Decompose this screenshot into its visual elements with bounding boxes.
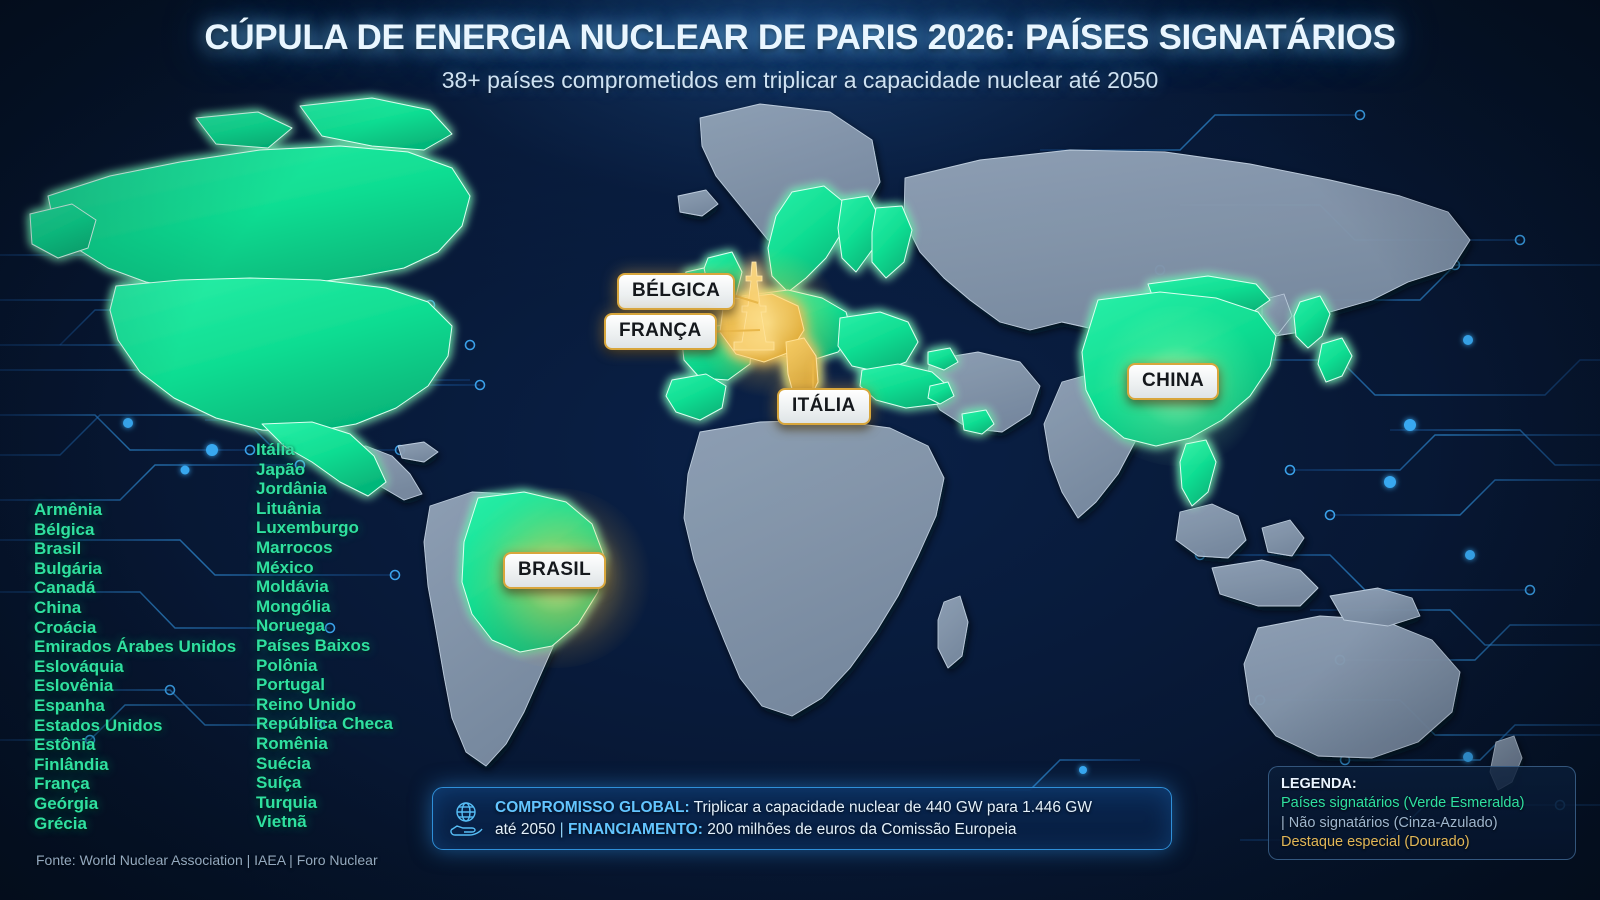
country-item: Geórgia: [34, 794, 256, 814]
banner-text: COMPROMISSO GLOBAL: Triplicar a capacida…: [495, 797, 1092, 841]
country-item: Suécia: [256, 754, 456, 774]
country-item: República Checa: [256, 714, 456, 734]
country-item: Itália: [256, 440, 456, 460]
source-note: Fonte: World Nuclear Association | IAEA …: [36, 852, 378, 868]
country-item: Grécia: [34, 814, 256, 834]
country-item: Vietnã: [256, 812, 456, 832]
country-item: Romênia: [256, 734, 456, 754]
country-item: Reino Unido: [256, 695, 456, 715]
country-item: Jordânia: [256, 479, 456, 499]
banner-key-financing: FINANCIAMENTO:: [568, 821, 703, 838]
map-label-brasil[interactable]: BRASIL: [503, 552, 606, 589]
page-title: CÚPULA DE ENERGIA NUCLEAR DE PARIS 2026:…: [0, 18, 1600, 58]
country-item: Portugal: [256, 675, 456, 695]
country-item: Marrocos: [256, 538, 456, 558]
country-item: Turquia: [256, 793, 456, 813]
country-item: Bélgica: [34, 520, 256, 540]
country-item: Canadá: [34, 578, 256, 598]
country-item: Espanha: [34, 696, 256, 716]
legend-row-signatory: Países signatários (Verde Esmeralda): [1281, 794, 1563, 814]
country-item: Finlândia: [34, 755, 256, 775]
country-item: China: [34, 598, 256, 618]
country-item: França: [34, 774, 256, 794]
leader-line-italia: [812, 360, 814, 390]
header: CÚPULA DE ENERGIA NUCLEAR DE PARIS 2026:…: [0, 0, 1600, 94]
country-item: Emirados Árabes Unidos: [34, 637, 256, 657]
country-item: Países Baixos: [256, 636, 456, 656]
page-subtitle: 38+ países comprometidos em triplicar a …: [0, 67, 1600, 94]
country-item: Moldávia: [256, 577, 456, 597]
country-item: México: [256, 558, 456, 578]
banner-value-financing: 200 milhões de euros da Comissão Europei…: [703, 821, 1017, 838]
banner-value-commitment: Triplicar a capacidade nuclear de 440 GW…: [690, 799, 1092, 816]
legend-row-non-signatory: | Não signatários (Cinza-Azulado): [1281, 814, 1563, 834]
country-item: Estados Unidos: [34, 716, 256, 736]
infographic-root: CÚPULA DE ENERGIA NUCLEAR DE PARIS 2026:…: [0, 0, 1600, 900]
banner-separator: |: [560, 821, 568, 838]
country-item: Brasil: [34, 539, 256, 559]
country-item: Estônia: [34, 735, 256, 755]
legend-title: LEGENDA:: [1281, 775, 1563, 794]
country-column-2: Itália Japão Jordânia Lituânia Luxemburg…: [256, 440, 456, 833]
country-item: Eslovênia: [34, 676, 256, 696]
country-item: Luxemburgo: [256, 518, 456, 538]
map-label-china[interactable]: CHINA: [1127, 363, 1219, 400]
country-item: Lituânia: [256, 499, 456, 519]
country-item: Armênia: [34, 500, 256, 520]
map-label-italia[interactable]: ITÁLIA: [777, 388, 871, 425]
country-item: Noruega: [256, 616, 456, 636]
country-column-1: Armênia Bélgica Brasil Bulgária Canadá C…: [34, 440, 256, 833]
global-commitment-banner: COMPROMISSO GLOBAL: Triplicar a capacida…: [432, 787, 1172, 850]
globe-in-hand-icon: [449, 799, 483, 839]
map-label-franca[interactable]: FRANÇA: [604, 313, 717, 350]
map-label-belgica[interactable]: BÉLGICA: [617, 273, 735, 310]
country-item: Polônia: [256, 656, 456, 676]
country-item: Japão: [256, 460, 456, 480]
legend-row-special-highlight: Destaque especial (Dourado): [1281, 833, 1563, 853]
country-item: Eslováquia: [34, 657, 256, 677]
banner-line2-lead: até 2050: [495, 821, 560, 838]
signatory-country-lists: Armênia Bélgica Brasil Bulgária Canadá C…: [34, 440, 456, 833]
country-item: Suíça: [256, 773, 456, 793]
legend: LEGENDA: Países signatários (Verde Esmer…: [1268, 766, 1576, 860]
banner-key-commitment: COMPROMISSO GLOBAL:: [495, 799, 690, 816]
country-item: Mongólia: [256, 597, 456, 617]
country-item: Bulgária: [34, 559, 256, 579]
country-item: Croácia: [34, 618, 256, 638]
